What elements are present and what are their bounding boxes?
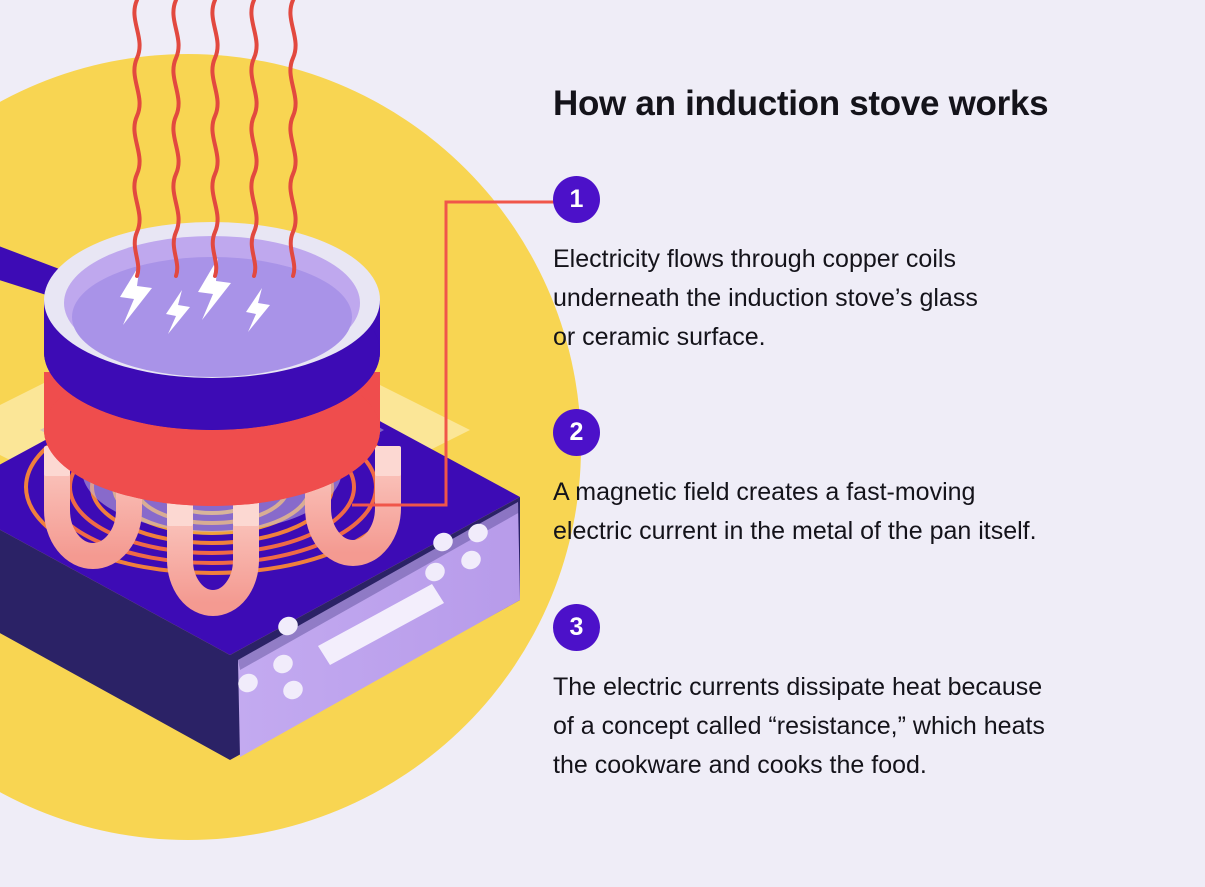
step-badge-2: 2 bbox=[553, 409, 600, 456]
text-column: How an induction stove works 1 Electrici… bbox=[553, 0, 1153, 887]
step-item-1: 1 Electricity flows through copper coils… bbox=[553, 176, 1153, 357]
step-item-3: 3 The electric currents dissipate heat b… bbox=[553, 604, 1153, 785]
step-badge-3: 3 bbox=[553, 604, 600, 651]
page-title: How an induction stove works bbox=[553, 84, 1048, 124]
step-text-2: A magnetic field creates a fast-moving e… bbox=[553, 473, 1153, 551]
step-text-1: Electricity flows through copper coils u… bbox=[553, 240, 1153, 357]
step-item-2: 2 A magnetic field creates a fast-moving… bbox=[553, 409, 1153, 551]
infographic-root: How an induction stove works 1 Electrici… bbox=[0, 0, 1205, 887]
step-text-3: The electric currents dissipate heat bec… bbox=[553, 668, 1153, 785]
step-badge-1: 1 bbox=[553, 176, 600, 223]
